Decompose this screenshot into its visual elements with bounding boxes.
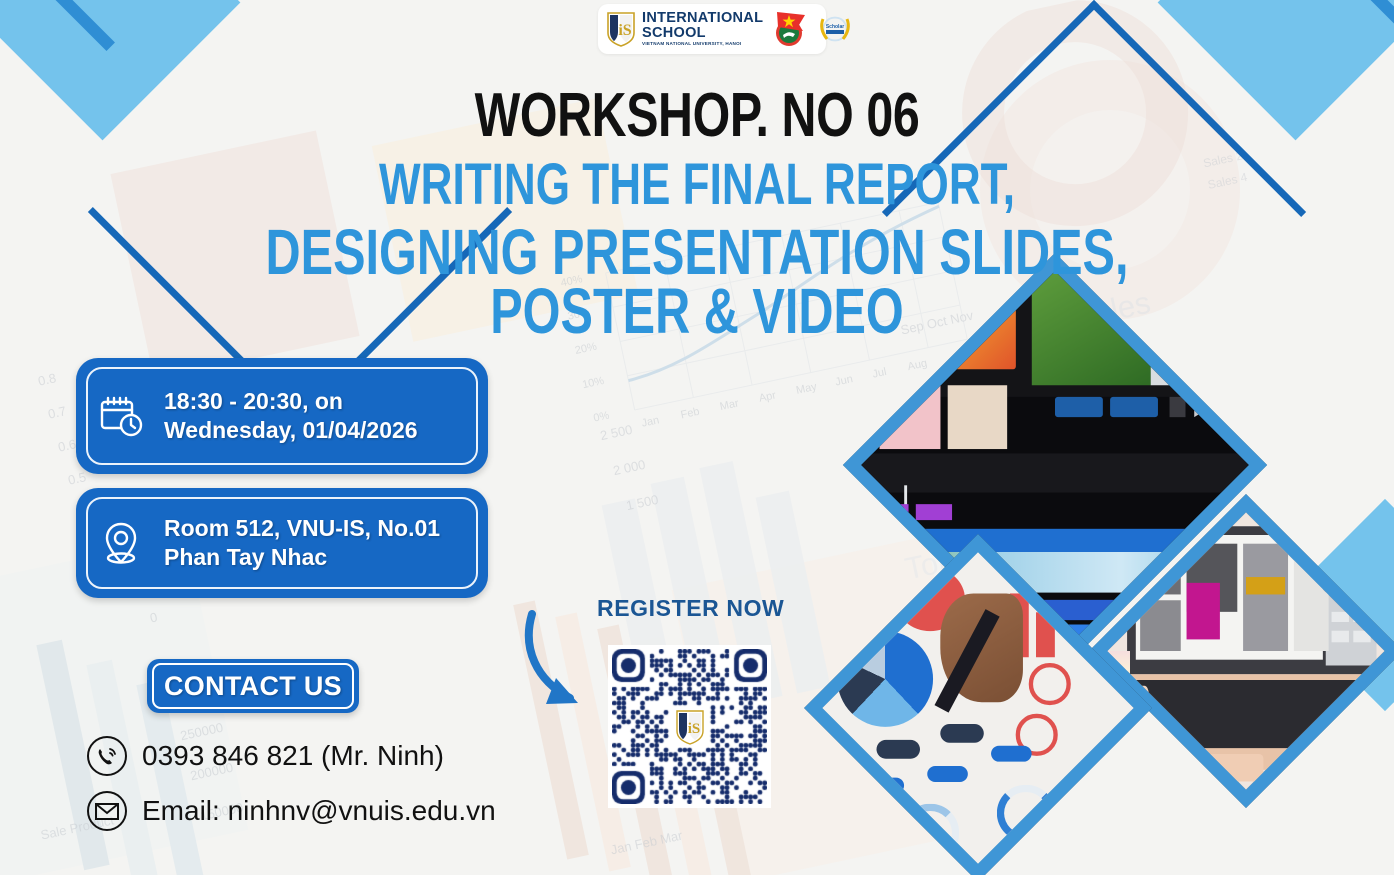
qr-center-is-shield-icon: iS bbox=[673, 707, 707, 747]
workshop-title: WORKSHOP. NO 06 bbox=[153, 80, 1240, 151]
location-pin-icon bbox=[94, 519, 148, 567]
svg-text:iS: iS bbox=[687, 721, 700, 737]
info-card-location-text: Room 512, VNU-IS, No.01 Phan Tay Nhac bbox=[164, 514, 440, 573]
svg-text:Jun: Jun bbox=[834, 373, 854, 388]
contact-phone-text: 0393 846 821 (Mr. Ninh) bbox=[142, 740, 444, 772]
workshop-poster: 0%10% 20%30%40% JanFebMar AprMayJun JulA… bbox=[0, 0, 1394, 875]
date-line-2: Wednesday, 01/04/2026 bbox=[164, 416, 418, 445]
logo-text-block: INTERNATIONAL SCHOOL VIETNAM NATIONAL UN… bbox=[642, 11, 763, 47]
contact-us-label: CONTACT US bbox=[164, 671, 342, 702]
scholar-wreath-award-icon: Scholar bbox=[815, 9, 855, 49]
svg-text:Apr: Apr bbox=[758, 389, 778, 404]
logo-line-international: INTERNATIONAL bbox=[642, 11, 763, 26]
logo-line-school: SCHOOL bbox=[642, 26, 763, 41]
location-line-1: Room 512, VNU-IS, No.01 bbox=[164, 514, 440, 543]
calendar-clock-icon bbox=[94, 392, 148, 440]
svg-text:Scholar: Scholar bbox=[826, 24, 844, 30]
workshop-subtitle: WRITING THE FINAL REPORT, DESIGNING PRES… bbox=[0, 158, 1394, 341]
svg-text:Jan: Jan bbox=[640, 414, 660, 429]
date-line-1: 18:30 - 20:30, on bbox=[164, 387, 418, 416]
svg-text:10%: 10% bbox=[581, 375, 605, 391]
envelope-circle-icon bbox=[86, 790, 128, 832]
contact-us-button[interactable]: CONTACT US bbox=[147, 659, 359, 713]
phone-circle-icon bbox=[86, 735, 128, 777]
contact-email-text: Email: ninhnv@vnuis.edu.vn bbox=[142, 795, 496, 827]
svg-text:Aug: Aug bbox=[907, 357, 929, 373]
is-shield-icon: iS bbox=[606, 11, 636, 47]
contact-phone-row: 0393 846 821 (Mr. Ninh) bbox=[86, 735, 444, 777]
contact-email-row: Email: ninhnv@vnuis.edu.vn bbox=[86, 790, 496, 832]
svg-text:0%: 0% bbox=[592, 409, 610, 424]
logo-bar: iS INTERNATIONAL SCHOOL VIETNAM NATIONAL… bbox=[598, 4, 826, 54]
info-card-date-text: 18:30 - 20:30, on Wednesday, 01/04/2026 bbox=[164, 387, 418, 446]
subtitle-line-1: WRITING THE FINAL REPORT, bbox=[167, 158, 1226, 211]
svg-text:May: May bbox=[795, 381, 818, 397]
svg-text:Mar: Mar bbox=[719, 397, 740, 413]
svg-text:iS: iS bbox=[618, 22, 631, 39]
registration-qr-code[interactable]: iS bbox=[608, 645, 771, 808]
svg-text:Jul: Jul bbox=[871, 366, 887, 381]
info-card-location: Room 512, VNU-IS, No.01 Phan Tay Nhac bbox=[76, 488, 488, 598]
subtitle-line-2: DESIGNING PRESENTATION SLIDES, POSTER & … bbox=[167, 223, 1226, 341]
logo-line-university: VIETNAM NATIONAL UNIVERSITY, HANOI bbox=[642, 42, 763, 47]
ho-chi-minh-youth-union-emblem-icon bbox=[769, 9, 809, 49]
svg-text:Feb: Feb bbox=[680, 406, 701, 422]
info-card-date: 18:30 - 20:30, on Wednesday, 01/04/2026 bbox=[76, 358, 488, 474]
location-line-2: Phan Tay Nhac bbox=[164, 543, 440, 572]
